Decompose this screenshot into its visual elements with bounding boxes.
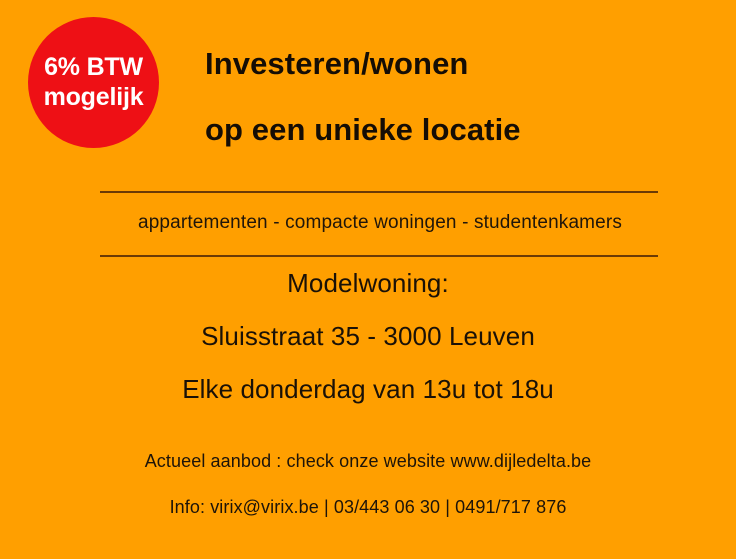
headline-secondary: op een unieke locatie <box>205 114 685 145</box>
property-categories: appartementen - compacte woningen - stud… <box>100 212 660 234</box>
advertisement-poster: 6% BTW mogelijk Investeren/wonen op een … <box>0 0 736 559</box>
model-home-block: Modelwoning: Sluisstraat 35 - 3000 Leuve… <box>68 270 668 402</box>
divider-top <box>100 191 658 193</box>
btw-badge: 6% BTW mogelijk <box>28 17 159 148</box>
btw-badge-line-1: 6% BTW <box>44 53 143 83</box>
model-home-label: Modelwoning: <box>68 270 668 296</box>
model-home-hours: Elke donderdag van 13u tot 18u <box>68 376 668 402</box>
model-home-address: Sluisstraat 35 - 3000 Leuven <box>68 323 668 349</box>
headline-primary: Investeren/wonen <box>205 48 685 79</box>
btw-badge-line-2: mogelijk <box>44 83 144 113</box>
website-line: Actueel aanbod : check onze website www.… <box>68 452 668 470</box>
contact-block: Actueel aanbod : check onze website www.… <box>68 452 668 516</box>
divider-bottom <box>100 255 658 257</box>
contact-info-line: Info: virix@virix.be | 03/443 06 30 | 04… <box>68 498 668 516</box>
headline-group: Investeren/wonen op een unieke locatie <box>205 48 685 145</box>
